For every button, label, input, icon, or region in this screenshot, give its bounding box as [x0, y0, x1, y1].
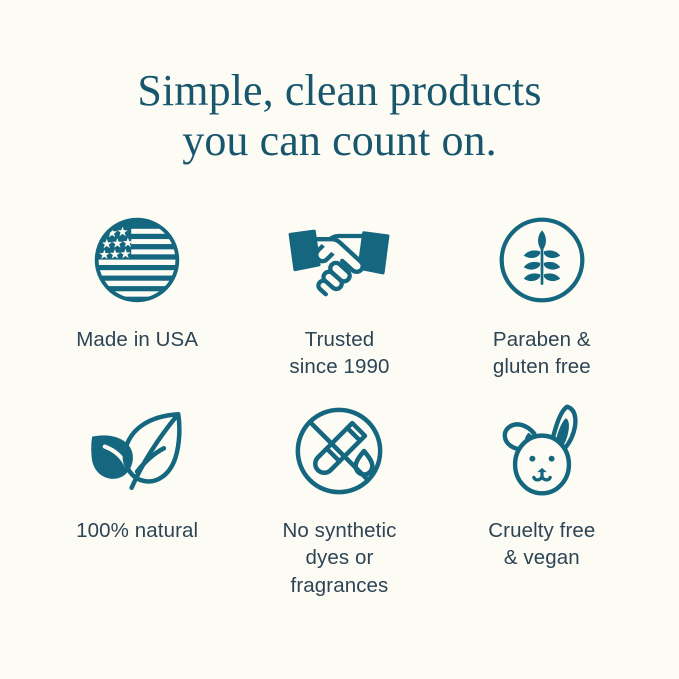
usa-flag-circle-icon	[85, 208, 189, 312]
badge-label: No synthetic dyes or fragrances	[282, 517, 396, 599]
page-title: Simple, clean products you can count on.	[0, 66, 679, 165]
handshake-icon	[287, 208, 391, 312]
wheat-stalk-circle-icon	[490, 208, 594, 312]
no-test-tube-icon	[287, 399, 391, 503]
badge-label: Made in USA	[76, 326, 198, 353]
badge-label: Trusted since 1990	[289, 326, 389, 381]
badge-label: 100% natural	[76, 517, 198, 544]
badge-cruelty-free-vegan: Cruelty free & vegan	[441, 399, 643, 599]
promo-badges-panel: Simple, clean products you can count on.	[0, 0, 679, 679]
badge-made-in-usa: Made in USA	[36, 208, 238, 381]
two-leaves-icon	[85, 399, 189, 503]
badge-label: Paraben & gluten free	[493, 326, 591, 381]
badge-100-natural: 100% natural	[36, 399, 238, 599]
badge-no-synthetic-dyes: No synthetic dyes or fragrances	[238, 399, 440, 599]
badge-paraben-gluten-free: Paraben & gluten free	[441, 208, 643, 381]
page-title-line-2: you can count on.	[40, 116, 639, 166]
badge-label: Cruelty free & vegan	[488, 517, 595, 572]
badge-grid: Made in USA	[36, 208, 643, 599]
badge-trusted-since: Trusted since 1990	[238, 208, 440, 381]
rabbit-head-icon	[490, 399, 594, 503]
page-title-line-1: Simple, clean products	[40, 66, 639, 116]
